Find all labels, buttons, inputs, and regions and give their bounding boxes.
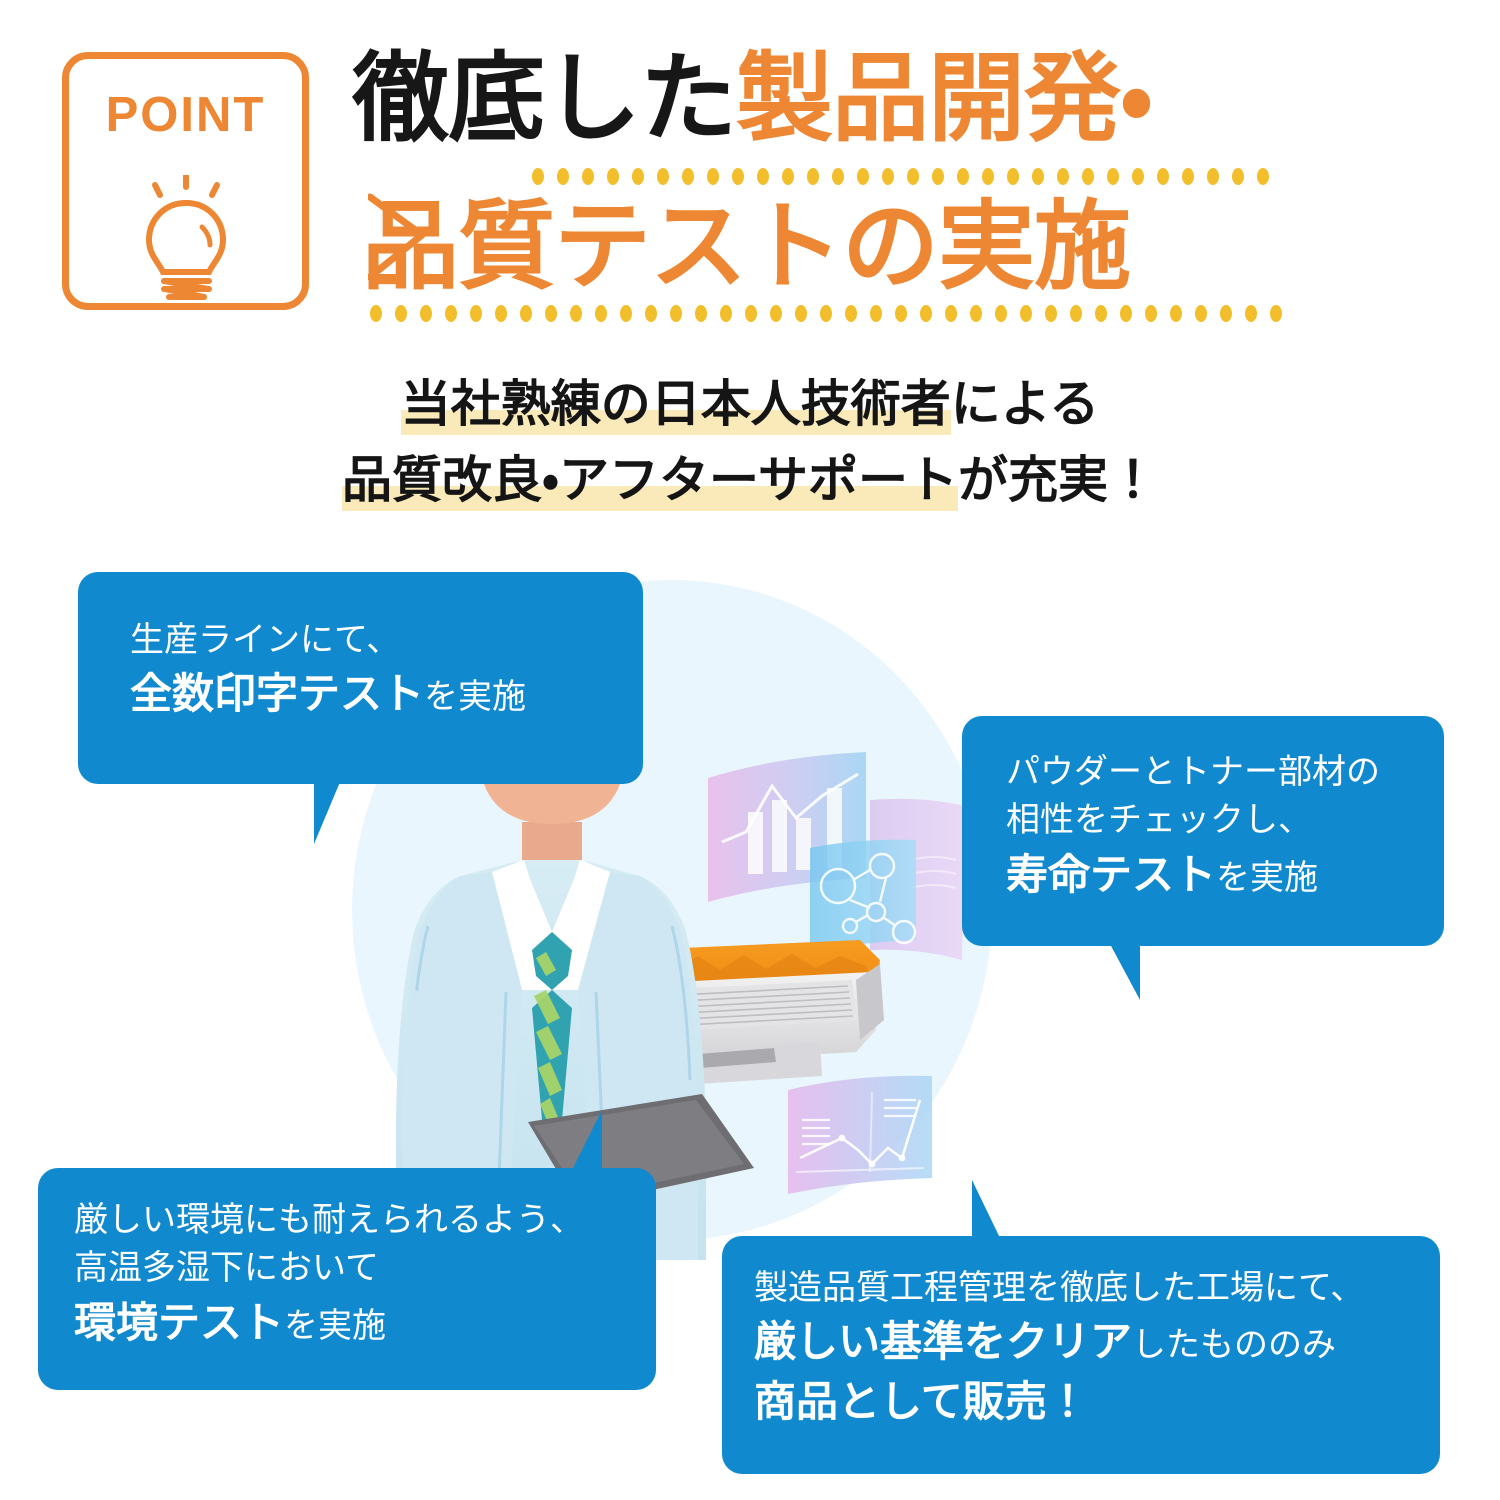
- subtitle-line-1-tail: による: [951, 375, 1100, 433]
- subtitle-line-2-highlight: 品質改良・アフターサポート: [342, 451, 958, 511]
- bubble-print-test-line-1: 生産ラインにて、: [130, 616, 643, 664]
- bubble-lifespan-test: パウダーとトナー部材の 相性をチェックし、 寿命テストを実施: [962, 716, 1444, 946]
- point-badge-label: POINT: [69, 87, 302, 143]
- bubble-lifespan-test-line-2: 相性をチェックし、: [1006, 796, 1444, 844]
- bubble-environment-test-line-2: 高温多湿下において: [74, 1244, 656, 1292]
- bubble-tail-lifespan-test: [1094, 944, 1140, 1000]
- subtitle-line-2: 品質改良・アフターサポートが充実！: [0, 442, 1500, 518]
- bubble-factory-standard-line-1: 製造品質工程管理を徹底した工場にて、: [754, 1264, 1440, 1312]
- bubble-factory-standard-suffix: したもののみ: [1132, 1325, 1336, 1365]
- bubble-environment-test-line-1: 厳しい環境にも耐えられるよう、: [74, 1196, 656, 1244]
- bubble-print-test-emphasis: 全数印字テスト: [130, 669, 424, 718]
- title-line-2: 品質テストの実施: [362, 196, 1130, 299]
- bubble-factory-standard-line-3: 商品として販売！: [754, 1372, 1440, 1432]
- title-line-1-black: 徹底した: [352, 42, 736, 155]
- bubble-print-test-line-2: 全数印字テストを実施: [130, 664, 643, 724]
- bubble-lifespan-test-line-3: 寿命テストを実施: [1006, 845, 1444, 905]
- title-line-1-orange: 製品開発・: [736, 42, 1152, 155]
- title-underline-dots-2: [370, 305, 1295, 322]
- line-chart-panel: [788, 1076, 932, 1194]
- subtitle-line-1-highlight: 当社熟練の日本人技術者: [401, 375, 951, 435]
- bubble-environment-test: 厳しい環境にも耐えられるよう、 高温多湿下において 環境テストを実施: [38, 1168, 656, 1390]
- bubble-factory-standard-line-2: 厳しい基準をクリアしたもののみ: [754, 1312, 1440, 1372]
- bubble-factory-standard: 製造品質工程管理を徹底した工場にて、 厳しい基準をクリアしたもののみ 商品として…: [722, 1236, 1440, 1474]
- bubble-environment-test-emphasis: 環境テスト: [74, 1298, 284, 1347]
- subtitle-line-2-tail: が充実！: [958, 451, 1158, 509]
- subtitle: 当社熟練の日本人技術者による 品質改良・アフターサポートが充実！: [0, 366, 1500, 518]
- bubble-lifespan-test-line-1: パウダーとトナー部材の: [1006, 748, 1444, 796]
- bubble-environment-test-line-3: 環境テストを実施: [74, 1293, 656, 1353]
- bubble-print-test-suffix: を実施: [424, 677, 526, 717]
- molecule-diagram-panel: [810, 840, 916, 952]
- bubble-tail-factory-standard: [972, 1180, 1016, 1238]
- title-line-1: 徹底した製品開発・: [352, 48, 1152, 151]
- bubble-lifespan-test-suffix: を実施: [1216, 858, 1318, 898]
- bubble-lifespan-test-emphasis: 寿命テスト: [1006, 850, 1216, 899]
- bubble-print-test: 生産ラインにて、 全数印字テストを実施: [78, 572, 643, 784]
- point-badge: POINT: [62, 52, 309, 310]
- bubble-factory-standard-emphasis: 厳しい基準をクリア: [754, 1317, 1132, 1366]
- lightbulb-icon: [124, 175, 248, 316]
- bubble-tail-environment-test: [558, 1110, 602, 1170]
- infographic-page: POINT: [0, 0, 1500, 1500]
- bubble-environment-test-suffix: を実施: [284, 1306, 386, 1346]
- bubble-tail-print-test: [314, 782, 362, 844]
- subtitle-line-1: 当社熟練の日本人技術者による: [0, 366, 1500, 442]
- title-underline-dots-1: [532, 168, 1292, 185]
